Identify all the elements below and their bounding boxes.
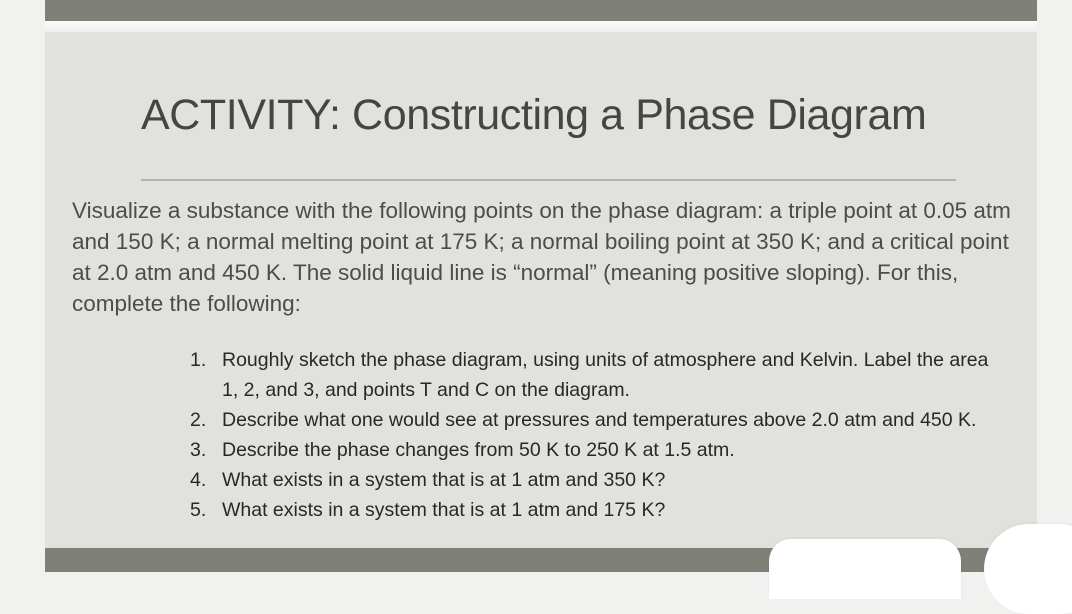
list-item: 5. What exists in a system that is at 1 … xyxy=(190,495,990,525)
list-item-label: Describe what one would see at pressures… xyxy=(222,409,976,431)
list-item: 4. What exists in a system that is at 1 … xyxy=(190,465,990,495)
list-item-number: 4. xyxy=(190,465,216,495)
title-divider xyxy=(141,179,956,181)
list-item-label: What exists in a system that is at 1 atm… xyxy=(222,499,665,521)
intro-paragraph: Visualize a substance with the following… xyxy=(72,195,1012,319)
list-item-number: 5. xyxy=(190,495,216,525)
previous-slide-edge xyxy=(45,0,1037,21)
list-item: 1. Roughly sketch the phase diagram, usi… xyxy=(190,345,990,405)
page-title: ACTIVITY: Constructing a Phase Diagram xyxy=(141,91,991,140)
floating-action-button-overlay[interactable] xyxy=(984,524,1072,614)
slide-separator-gap xyxy=(45,21,1037,32)
slide-viewer: ACTIVITY: Constructing a Phase Diagram V… xyxy=(0,0,1072,572)
list-item: 2. Describe what one would see at pressu… xyxy=(190,405,990,435)
list-item-number: 1. xyxy=(190,345,216,375)
viewer-right-margin xyxy=(0,0,35,572)
list-item-number: 2. xyxy=(190,405,216,435)
list-item-label: Describe the phase changes from 50 K to … xyxy=(222,439,735,461)
list-item: 3. Describe the phase changes from 50 K … xyxy=(190,435,990,465)
floating-toolbar-overlay[interactable] xyxy=(769,539,961,599)
slide-canvas[interactable]: ACTIVITY: Constructing a Phase Diagram V… xyxy=(45,32,1037,548)
list-item-label: What exists in a system that is at 1 atm… xyxy=(222,469,665,491)
task-list: 1. Roughly sketch the phase diagram, usi… xyxy=(190,345,990,525)
list-item-number: 3. xyxy=(190,435,216,465)
list-item-label: Roughly sketch the phase diagram, using … xyxy=(222,349,988,401)
